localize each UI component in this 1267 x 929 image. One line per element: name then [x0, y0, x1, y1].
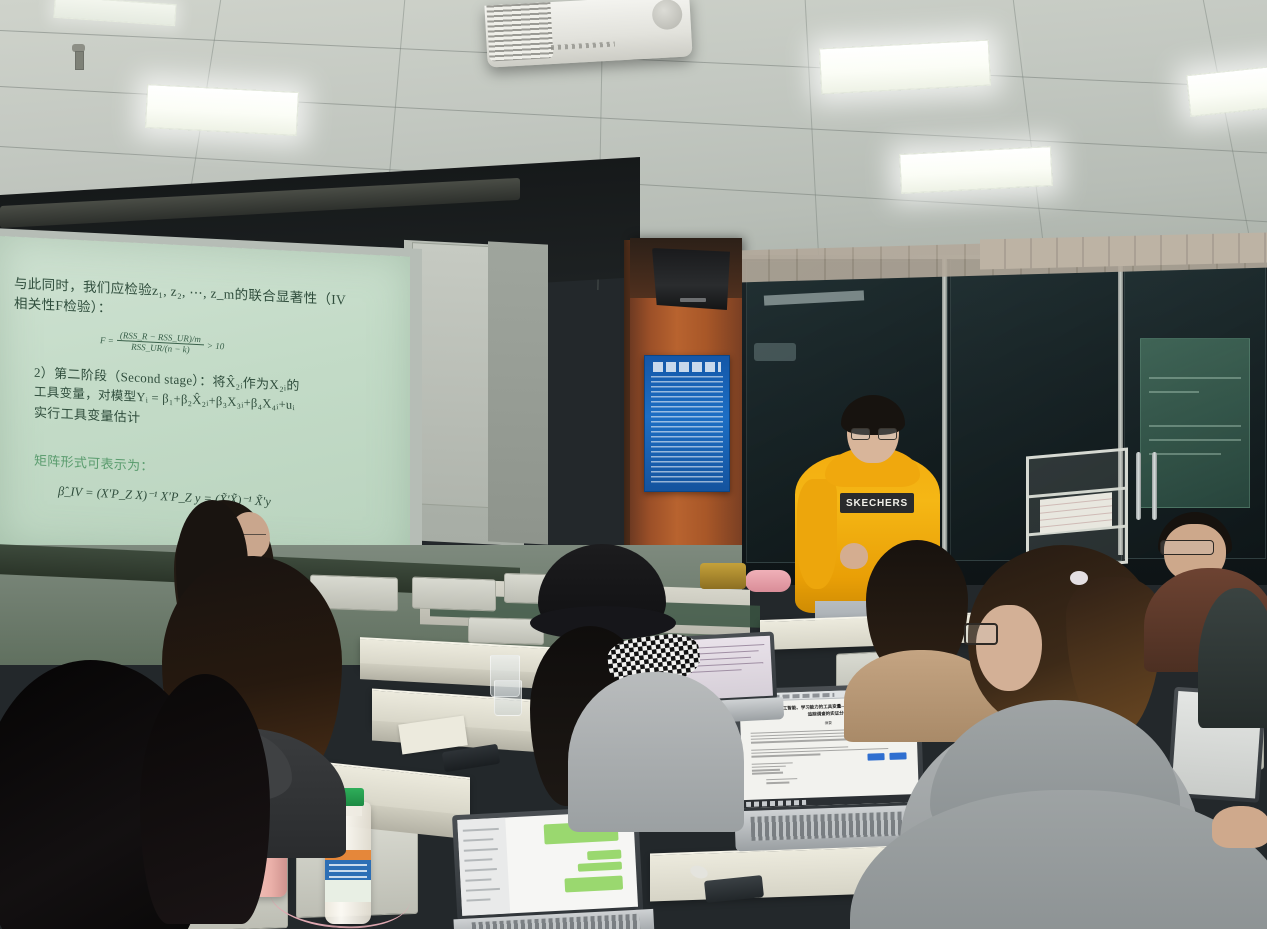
- ceiling-light-panel: [819, 40, 991, 95]
- wall-panel-secondary: [488, 241, 548, 544]
- window-reflection-projector: [754, 343, 796, 361]
- door-handle[interactable]: [1152, 452, 1157, 520]
- formula-lhs: F =: [100, 335, 114, 346]
- chat-message-bubble: [587, 850, 621, 861]
- chat-message-bubble: [564, 875, 623, 892]
- student-hand: [1212, 806, 1267, 848]
- student-foreground-left: [0, 660, 270, 929]
- ceiling-light-panel: [145, 84, 299, 136]
- presenter-arm: [797, 479, 837, 589]
- chat-contact-list[interactable]: [457, 818, 510, 916]
- student-shoulders: [850, 790, 1267, 929]
- wall-speaker: [652, 248, 730, 310]
- glasses-icon: [851, 428, 897, 438]
- chair: [412, 577, 496, 612]
- sprinkler-icon: [72, 44, 85, 70]
- student-hair-secondary: [140, 674, 270, 924]
- formula-comparison: > 10: [207, 340, 224, 351]
- smartphone[interactable]: [442, 744, 500, 773]
- ceiling-light-panel: [899, 146, 1053, 194]
- glasses-icon: [964, 623, 998, 645]
- hoodie-brand-text: SKECHERS: [846, 498, 908, 509]
- classroom-scene: 与此同时，我们应检验z₁, z₂, ⋯, z_m的联合显著性（IV 相关性F检验…: [0, 0, 1267, 929]
- document-confirm-button[interactable]: [867, 753, 884, 761]
- slide-formula-f-test: F = (RSS_R − RSS_UR)/m RSS_UR/(n − k) > …: [100, 329, 224, 357]
- ceiling-projector: [484, 0, 692, 68]
- ceiling-light-panel: [53, 0, 176, 26]
- ceiling-light-panel: [1186, 65, 1267, 117]
- blue-notice-board: [644, 355, 730, 492]
- glasses-icon: [1160, 540, 1214, 555]
- student-foreground-right: [890, 680, 1267, 929]
- student-shoulders: [568, 672, 744, 832]
- chat-message-bubble: [578, 862, 622, 872]
- student-bucket-hat: [512, 544, 742, 824]
- hoodie-brand-logo: SKECHERS: [840, 493, 914, 513]
- student-head: [976, 605, 1042, 691]
- pink-pencil-case: [745, 570, 791, 592]
- slide-bullet3: 矩阵形式可表示为：: [34, 450, 334, 484]
- door-handle[interactable]: [1136, 452, 1141, 520]
- smartphone[interactable]: [704, 875, 764, 903]
